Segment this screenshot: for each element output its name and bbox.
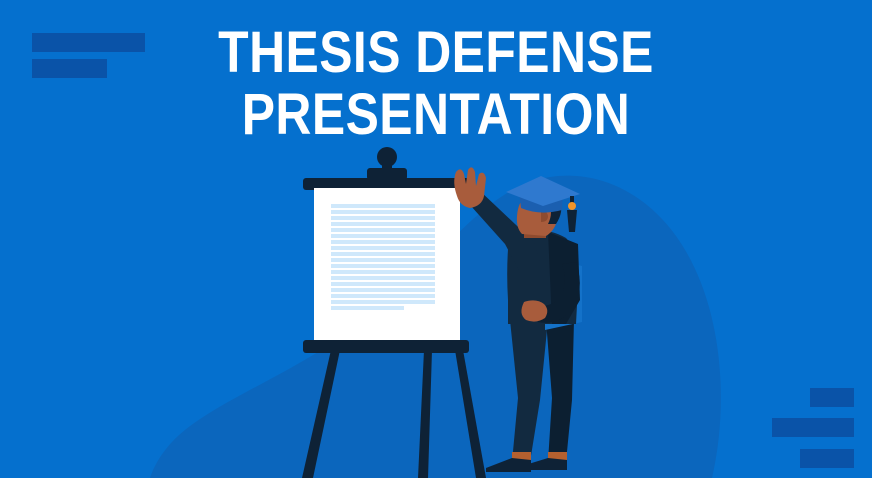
presenter-leg-front [510,320,548,462]
board-text-line [331,246,435,250]
board-text-line [331,228,435,232]
cap-mortarboard [506,176,580,206]
easel-legs [302,350,486,478]
board-text-line [331,276,435,280]
board-text-line [331,294,435,298]
cap-tassel [567,210,577,232]
presenter-shoe-front [486,458,531,472]
easel-bottom-rail [303,340,469,353]
board-text-line [331,258,435,262]
presenter-leg-back [546,320,574,462]
board-text-line [331,264,435,268]
board-text-line [331,222,435,226]
board-text-line [331,300,435,304]
easel-clamp [367,147,407,180]
board-text-line [331,288,435,292]
easel-knob-icon [377,147,397,167]
board-text-line [331,234,435,238]
cap-tassel-button [568,202,576,210]
easel-leg-left [302,350,340,478]
slide-root: Thesis Defense Presentation [0,0,872,478]
board-text-line [331,240,435,244]
board-text-line-partial [331,306,404,310]
board-text-line [331,204,435,208]
easel-leg-center [418,350,432,478]
board-text-line [331,216,435,220]
board-text-line [331,282,435,286]
board-text-line [331,252,435,256]
easel-leg-right [455,350,486,478]
board-text-line [331,210,435,214]
board-text-line [331,270,435,274]
presenter-illustration [0,0,872,478]
presenter-hand-on-folder [521,300,547,321]
